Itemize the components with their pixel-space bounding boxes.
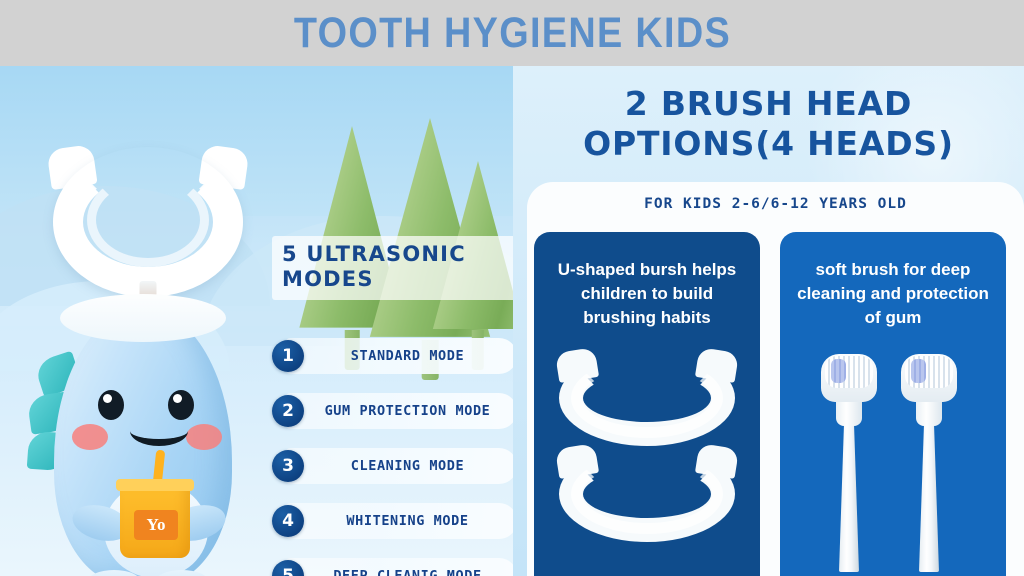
mode-row[interactable]: 3 CLEANING MODE: [272, 448, 513, 484]
card-u-shaped-text: U-shaped bursh helps children to build b…: [550, 258, 744, 330]
mode-row[interactable]: 5 DEEP CLEANIG MODE: [272, 558, 513, 576]
card-u-shaped-brush[interactable]: U-shaped bursh helps children to build b…: [534, 232, 760, 576]
right-panel: 2 BRUSH HEAD OPTIONS(4 HEADS) FOR KIDS 2…: [513, 66, 1024, 576]
u-brush-head-image: [559, 446, 735, 542]
cheek-right: [186, 424, 222, 450]
card-soft-brush-text: soft brush for deep cleaning and protect…: [796, 258, 990, 330]
mode-label: WHITENING MODE: [304, 513, 513, 529]
right-title-line-1: 2 BRUSH HEAD: [513, 84, 1024, 124]
cup-logo-label: Yo: [134, 510, 178, 540]
modes-heading-panel: 5 ULTRASONIC MODES: [272, 236, 513, 300]
infographic-page: TOOTH HYGIENE KIDS: [0, 0, 1024, 576]
sonic-brush-head-image: [898, 352, 960, 572]
right-panel-title: 2 BRUSH HEAD OPTIONS(4 HEADS): [513, 84, 1024, 164]
cheek-left: [72, 424, 108, 450]
mode-row[interactable]: 4 WHITENING MODE: [272, 503, 513, 539]
sonic-brush-head-image: [818, 352, 880, 572]
u-brush-head-image: [559, 350, 735, 446]
ultrasonic-modes-list: 1 STANDARD MODE 2 GUM PROTECTION MODE 3 …: [272, 338, 513, 576]
page-title: TOOTH HYGIENE KIDS: [293, 9, 730, 58]
dinosaur-mascot-image: Yo: [28, 302, 258, 576]
card-soft-brush[interactable]: soft brush for deep cleaning and protect…: [780, 232, 1006, 576]
mode-number-badge: 4: [272, 505, 304, 537]
left-panel: Yo 5 ULTRASONIC MODES 1 STANDARD MODE 2: [0, 66, 513, 576]
modes-heading-text: 5 ULTRASONIC MODES: [282, 242, 509, 292]
age-range-subtitle: FOR KIDS 2-6/6-12 YEARS OLD: [527, 196, 1024, 212]
mode-label: CLEANING MODE: [304, 458, 513, 474]
mode-number-badge: 3: [272, 450, 304, 482]
mascot-head-top: [60, 294, 226, 342]
mode-number-badge: 2: [272, 395, 304, 427]
header-bar: TOOTH HYGIENE KIDS: [0, 0, 1024, 66]
mode-label: STANDARD MODE: [304, 348, 513, 364]
juice-cup-icon: Yo: [120, 484, 190, 558]
mode-label: GUM PROTECTION MODE: [304, 403, 513, 419]
mode-number-badge: 1: [272, 340, 304, 372]
mode-row[interactable]: 1 STANDARD MODE: [272, 338, 513, 374]
mode-row[interactable]: 2 GUM PROTECTION MODE: [272, 393, 513, 429]
eye-left: [98, 390, 124, 420]
smile-mouth: [130, 416, 188, 446]
mode-label: DEEP CLEANIG MODE: [304, 568, 513, 576]
u-shaped-brush-head-image: [53, 147, 243, 297]
right-title-line-2: OPTIONS(4 HEADS): [513, 124, 1024, 164]
